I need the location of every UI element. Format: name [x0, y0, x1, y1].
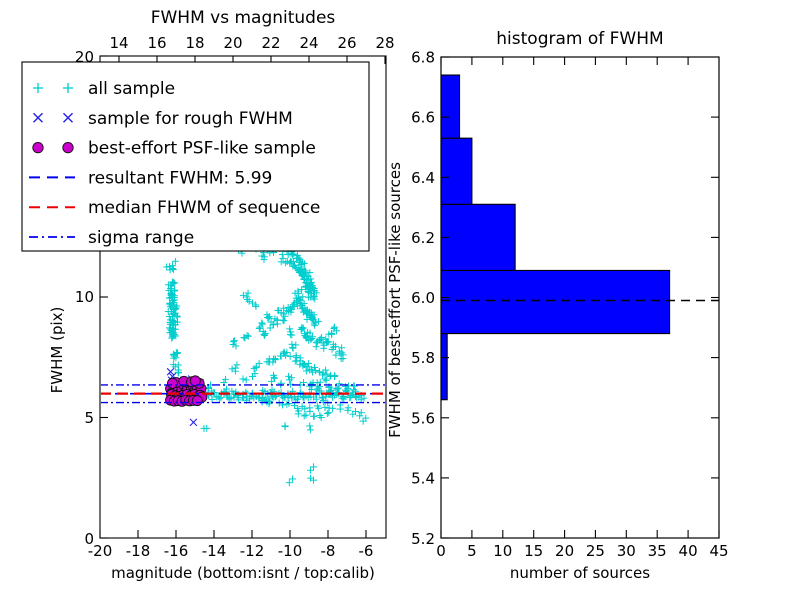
right-panel-xlabel: number of sources [510, 564, 650, 582]
histogram-bar [441, 75, 460, 138]
hist-x-tick-label: 35 [648, 542, 667, 560]
y-tick-label: 5 [84, 409, 94, 427]
histogram-bar [441, 334, 447, 400]
left-panel-title: FWHM vs magnitudes [151, 8, 336, 28]
psf-sample-points [166, 376, 207, 406]
top-tick-label: 20 [223, 34, 242, 52]
hist-x-tick-label: 15 [524, 542, 543, 560]
legend-item-label: best-effort PSF-like sample [88, 139, 316, 159]
right-panel-title: histogram of FWHM [496, 29, 663, 49]
hist-y-tick-label: 6.4 [411, 169, 435, 187]
hist-x-tick-label: 40 [679, 542, 698, 560]
circle-icon [33, 142, 43, 152]
hist-x-tick-label: 25 [586, 542, 605, 560]
bottom-tick-label: -10 [278, 542, 303, 560]
bottom-tick-label: -16 [164, 542, 189, 560]
hist-x-tick-label: 30 [617, 542, 636, 560]
y-tick-label: 10 [75, 288, 94, 306]
top-tick-label: 22 [261, 34, 280, 52]
histogram-bar [441, 204, 515, 270]
hist-y-tick-label: 6.8 [411, 49, 435, 67]
hist-x-tick-label: 45 [709, 542, 728, 560]
legend: all samplesample for rough FWHMbest-effo… [22, 62, 369, 251]
left-top-tick-labels: 14 16 18 20 22 24 26 28 [109, 34, 394, 52]
legend-item-label: median FHWM of sequence [88, 198, 320, 218]
circle-icon [63, 142, 73, 152]
top-tick-label: 18 [185, 34, 204, 52]
left-bottom-tick-labels: -20 -18 -16 -14 -12 -10 -8 -6 [88, 542, 374, 560]
hist-y-tick-label: 5.4 [411, 470, 435, 488]
legend-item-label: sample for rough FWHM [88, 109, 293, 129]
hist-y-tick-label: 5.2 [411, 530, 435, 548]
right-x-tick-labels: 0 5 10 15 20 25 30 35 40 45 [436, 542, 728, 560]
left-panel-ylabel: FWHM (pix) [48, 307, 66, 394]
matplotlib-figure: FWHM vs magnitudes 14 16 [0, 0, 800, 600]
hist-x-tick-label: 10 [493, 542, 512, 560]
legend-item-label: sigma range [88, 228, 194, 248]
hist-x-tick-label: 20 [555, 542, 574, 560]
psf-sample-dot [167, 378, 177, 388]
hist-y-tick-label: 5.8 [411, 349, 435, 367]
hist-y-tick-label: 6.6 [411, 109, 435, 127]
histogram-bar [441, 138, 472, 204]
y-tick-label: 0 [84, 530, 94, 548]
top-tick-label: 26 [337, 34, 356, 52]
hist-y-tick-label: 6.0 [411, 289, 435, 307]
top-tick-label: 14 [109, 34, 128, 52]
right-y-tick-labels: 5.2 5.4 5.6 5.8 6.0 6.2 6.4 6.6 6.8 [411, 49, 435, 548]
figure-canvas: FWHM vs magnitudes 14 16 [0, 0, 800, 600]
bottom-tick-label: -12 [240, 542, 265, 560]
psf-sample-dot [192, 396, 202, 406]
hist-x-tick-label: 5 [467, 542, 477, 560]
histogram-bar [441, 270, 670, 333]
top-tick-label: 16 [147, 34, 166, 52]
right-panel: histogram of FWHM [386, 29, 729, 582]
bottom-tick-label: -6 [359, 542, 374, 560]
legend-item-label: resultant FWHM: 5.99 [88, 168, 272, 188]
right-panel-ylabel: FWHM of best-effort PSF-like sources [386, 162, 404, 438]
bottom-tick-label: -14 [202, 542, 227, 560]
top-tick-label: 24 [299, 34, 318, 52]
left-panel-xlabel: magnitude (bottom:isnt / top:calib) [111, 564, 375, 582]
bottom-tick-label: -18 [126, 542, 151, 560]
hist-y-tick-label: 5.6 [411, 409, 435, 427]
top-tick-label: 28 [375, 34, 394, 52]
legend-item-label: all sample [88, 79, 175, 99]
hist-x-tick-label: 0 [436, 542, 446, 560]
hist-y-tick-label: 6.2 [411, 229, 435, 247]
bottom-tick-label: -8 [321, 542, 336, 560]
